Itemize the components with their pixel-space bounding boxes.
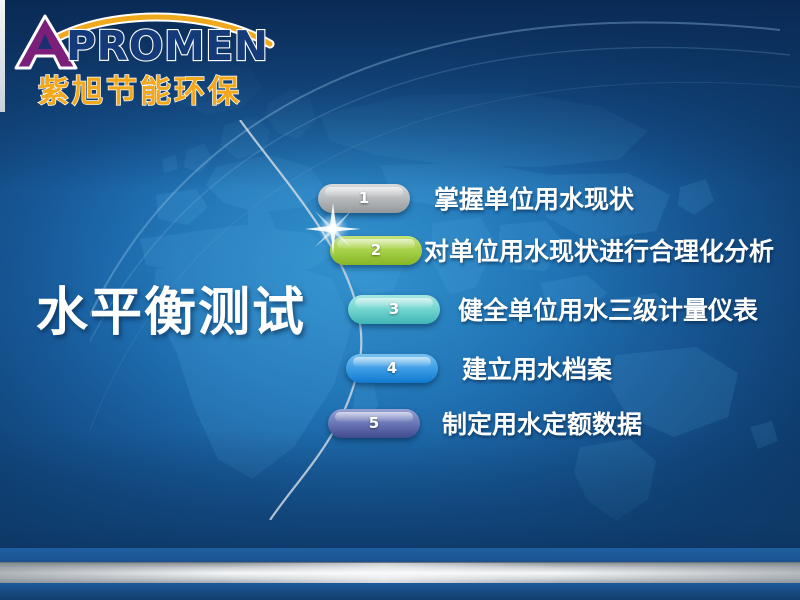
footer-upper-band <box>0 548 800 562</box>
step-number: 3 <box>389 300 399 318</box>
list-item[interactable]: 1 掌握单位用水现状 <box>318 180 634 216</box>
brand-logo: PROMEN 紫旭节能环保 <box>8 4 288 108</box>
footer-lower-band <box>0 583 800 600</box>
left-edge-strip <box>0 0 5 112</box>
step-number-pill[interactable]: 3 <box>348 295 440 324</box>
step-number: 2 <box>371 241 381 259</box>
list-item-label: 掌握单位用水现状 <box>434 180 634 216</box>
slide-canvas: PROMEN 紫旭节能环保 水平衡测试 1 掌握单位用水现状 2 对单位用水现状… <box>0 0 800 600</box>
step-number: 4 <box>387 359 397 377</box>
step-number: 5 <box>369 414 379 432</box>
list-item[interactable]: 5 制定用水定额数据 <box>328 405 642 441</box>
step-number-pill[interactable]: 2 <box>330 236 422 265</box>
step-number-pill[interactable]: 4 <box>346 354 438 383</box>
list-item-label: 建立用水档案 <box>462 350 612 386</box>
list-item-label: 健全单位用水三级计量仪表 <box>458 291 758 327</box>
page-title: 水平衡测试 <box>36 270 306 345</box>
list-item-label: 制定用水定额数据 <box>442 405 642 441</box>
step-number-pill[interactable]: 5 <box>328 409 420 438</box>
list-item[interactable]: 4 建立用水档案 <box>346 350 612 386</box>
step-number: 1 <box>359 189 369 207</box>
list-item-label: 对单位用水现状进行合理化分析 <box>424 232 774 268</box>
brand-chinese-name: 紫旭节能环保 <box>38 66 242 111</box>
list-item[interactable]: 3 健全单位用水三级计量仪表 <box>348 291 758 327</box>
brand-wordmark: PROMEN <box>66 22 269 70</box>
step-number-pill[interactable]: 1 <box>318 184 410 213</box>
footer-chrome-bar <box>0 562 800 585</box>
list-item[interactable]: 2 对单位用水现状进行合理化分析 <box>330 232 774 268</box>
chrome-sheen <box>0 563 800 584</box>
